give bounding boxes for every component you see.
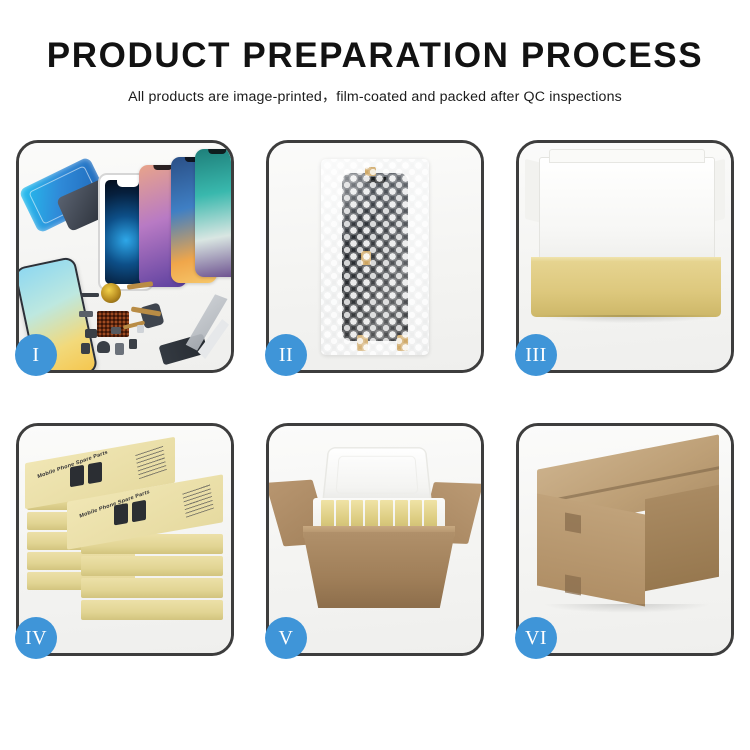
process-step-grid: I II bbox=[16, 140, 734, 656]
box-art-screens bbox=[114, 500, 146, 526]
small-part bbox=[115, 343, 124, 355]
small-part bbox=[129, 339, 137, 349]
stacked-box bbox=[81, 600, 223, 620]
page-title: PRODUCT PREPARATION PROCESS bbox=[0, 38, 750, 75]
small-part bbox=[97, 341, 110, 353]
speaker-coil-part bbox=[101, 283, 121, 303]
box-spec-text bbox=[182, 483, 214, 517]
plastic-sheen bbox=[321, 159, 429, 355]
process-step-1: I bbox=[16, 140, 234, 373]
notch bbox=[153, 165, 172, 170]
process-step-2: II bbox=[266, 140, 484, 373]
carton-side-face bbox=[645, 485, 719, 591]
process-step-6: VI bbox=[516, 423, 734, 656]
header: PRODUCT PREPARATION PROCESS All products… bbox=[0, 0, 750, 106]
step-6-image bbox=[519, 426, 731, 653]
small-part bbox=[81, 343, 90, 354]
process-step-3: III bbox=[516, 140, 734, 373]
step-badge-1: I bbox=[15, 334, 57, 376]
page-subtitle: All products are image-printed，film-coat… bbox=[0, 86, 750, 106]
process-step-4: Mobile Phone Spare Parts Mobile Phone Sp… bbox=[16, 423, 234, 656]
box-spec-text bbox=[135, 445, 167, 479]
carton-shadow bbox=[543, 604, 711, 613]
notch bbox=[208, 149, 226, 154]
stacked-box bbox=[81, 556, 223, 576]
step-4-image: Mobile Phone Spare Parts Mobile Phone Sp… bbox=[19, 426, 231, 653]
step-badge-3: III bbox=[515, 334, 557, 376]
stacked-box bbox=[81, 578, 223, 598]
box-art-screens bbox=[70, 462, 102, 488]
step-5-image bbox=[269, 426, 481, 653]
yellow-inner-box bbox=[531, 261, 721, 317]
step-badge-5: V bbox=[265, 617, 307, 659]
step-2-image bbox=[269, 143, 481, 370]
box-shadow bbox=[535, 315, 719, 323]
small-part bbox=[81, 293, 99, 297]
box-stack: Mobile Phone Spare Parts Mobile Phone Sp… bbox=[19, 426, 231, 653]
phone-teal bbox=[195, 149, 231, 277]
product-preparation-infographic: PRODUCT PREPARATION PROCESS All products… bbox=[0, 0, 750, 750]
step-3-image bbox=[519, 143, 731, 370]
bubble-wrap-bag bbox=[321, 159, 429, 355]
process-step-5: V bbox=[266, 423, 484, 656]
step-1-image bbox=[19, 143, 231, 370]
step-badge-2: II bbox=[265, 334, 307, 376]
carton-front-face bbox=[537, 494, 645, 607]
small-part bbox=[137, 325, 144, 333]
small-part bbox=[111, 327, 121, 334]
carton-tape-lower bbox=[565, 574, 581, 595]
step-badge-4: IV bbox=[15, 617, 57, 659]
small-part bbox=[79, 311, 93, 317]
carton-tape-upper bbox=[565, 512, 581, 533]
small-part bbox=[85, 329, 97, 338]
step-badge-6: VI bbox=[515, 617, 557, 659]
shipping-carton-open bbox=[303, 532, 455, 608]
